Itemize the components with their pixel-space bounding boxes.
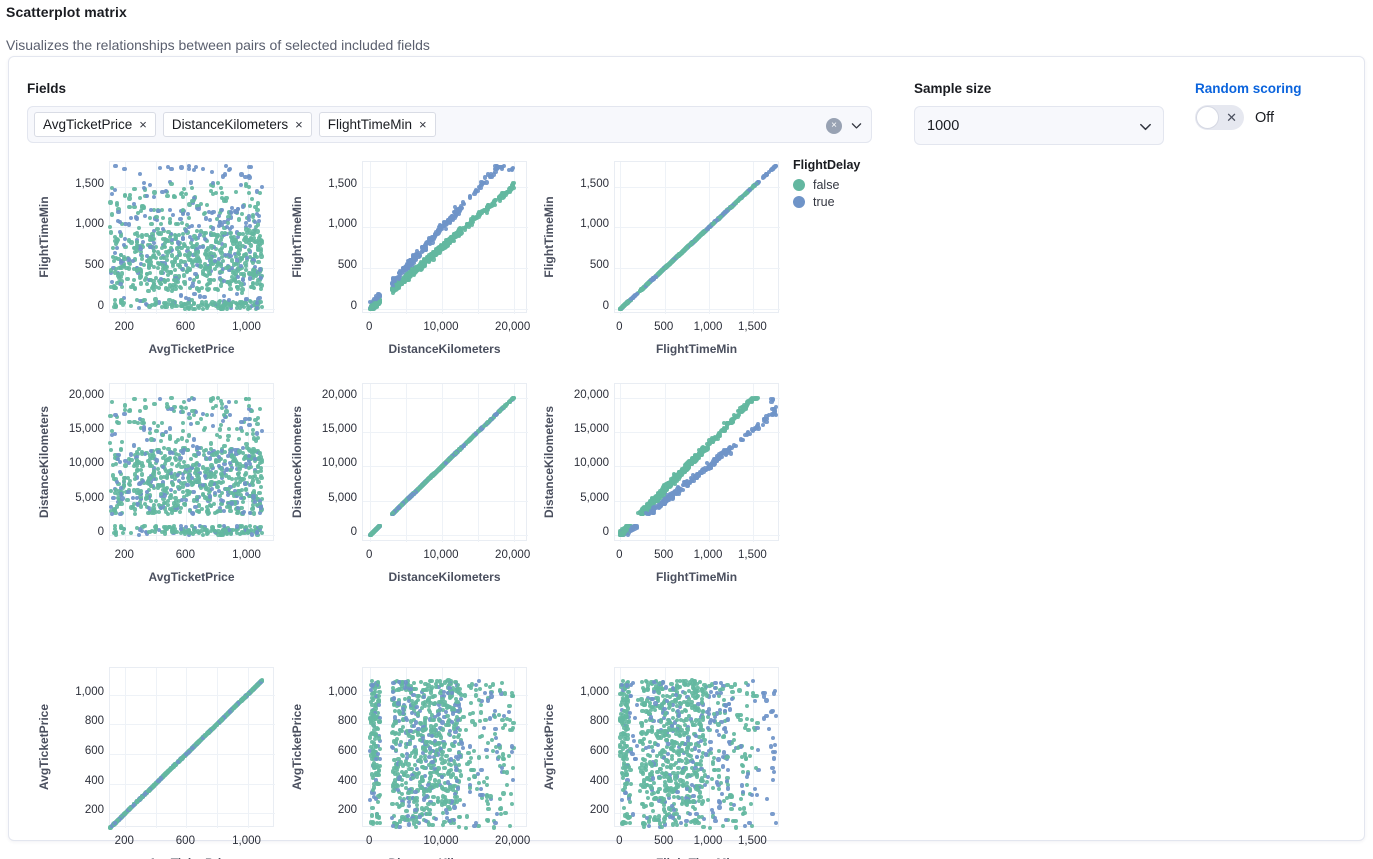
chevron-down-icon[interactable] xyxy=(1138,119,1151,132)
data-point xyxy=(252,272,256,276)
data-point xyxy=(179,259,183,263)
data-point xyxy=(180,221,184,225)
data-point xyxy=(148,427,152,431)
data-point xyxy=(219,263,223,267)
data-point xyxy=(215,217,219,221)
data-point xyxy=(211,226,215,230)
data-point xyxy=(190,524,194,528)
data-point xyxy=(160,190,164,194)
data-point xyxy=(220,191,224,195)
data-point xyxy=(222,294,226,298)
data-point xyxy=(182,273,186,277)
data-point xyxy=(152,190,156,194)
gridline-horizontal xyxy=(615,268,780,269)
data-point xyxy=(132,397,136,401)
data-point xyxy=(127,222,131,226)
y-axis-tick-label: 0 xyxy=(49,526,104,538)
data-point xyxy=(247,218,251,222)
field-pill-avgticketprice[interactable]: AvgTicketPrice × xyxy=(34,112,156,137)
data-point xyxy=(122,476,126,480)
data-point xyxy=(774,164,778,168)
y-axis-tick-label: 500 xyxy=(49,259,104,271)
data-point xyxy=(207,287,211,291)
data-point xyxy=(202,428,206,432)
data-point xyxy=(195,467,199,471)
data-point xyxy=(226,438,230,442)
data-point xyxy=(219,186,223,190)
data-point xyxy=(228,167,232,171)
field-pill-label: AvgTicketPrice xyxy=(43,117,132,132)
data-point xyxy=(196,304,200,308)
data-point xyxy=(172,194,176,198)
data-point xyxy=(192,437,196,441)
data-point xyxy=(119,265,123,269)
data-point xyxy=(113,188,117,192)
data-point xyxy=(137,306,141,310)
data-point xyxy=(207,210,211,214)
data-point xyxy=(223,450,227,454)
data-point xyxy=(219,283,223,287)
gridline-vertical xyxy=(186,162,187,314)
data-point xyxy=(129,452,133,456)
data-point xyxy=(255,431,259,435)
data-point xyxy=(228,287,232,291)
field-pill-flighttimemin[interactable]: FlightTimeMin × xyxy=(319,112,436,137)
gridline-vertical xyxy=(370,162,371,314)
data-point xyxy=(247,248,251,252)
data-point xyxy=(123,237,127,241)
data-point xyxy=(240,429,244,433)
data-point xyxy=(115,246,119,250)
data-point xyxy=(239,493,243,497)
plot-area[interactable] xyxy=(109,161,274,313)
data-point xyxy=(140,464,144,468)
data-point xyxy=(228,461,232,465)
x-axis-tick-label: 200 xyxy=(89,549,159,561)
data-point xyxy=(181,212,185,216)
gridline-vertical xyxy=(406,162,407,314)
data-point xyxy=(202,295,206,299)
plot-area[interactable] xyxy=(362,161,527,313)
data-point xyxy=(133,472,137,476)
data-point xyxy=(220,406,224,410)
data-point xyxy=(244,227,248,231)
data-point xyxy=(745,191,749,195)
data-point xyxy=(169,396,173,400)
gridline-horizontal xyxy=(363,501,528,502)
data-point xyxy=(197,280,201,284)
data-point xyxy=(132,443,136,447)
data-point xyxy=(141,240,145,244)
data-point xyxy=(228,413,232,417)
data-point xyxy=(157,286,161,290)
data-point xyxy=(161,263,165,267)
data-point xyxy=(146,289,150,293)
plot-area[interactable] xyxy=(614,161,779,313)
data-point xyxy=(137,533,141,537)
data-point xyxy=(145,272,149,276)
data-point xyxy=(135,468,139,472)
data-point xyxy=(142,181,146,185)
data-point xyxy=(244,442,248,446)
data-point xyxy=(187,412,191,416)
remove-field-icon[interactable]: × xyxy=(139,118,147,131)
data-point xyxy=(145,490,149,494)
data-point xyxy=(186,246,190,250)
data-point xyxy=(245,492,249,496)
data-point xyxy=(158,166,162,170)
y-axis-tick-label: 20,000 xyxy=(49,389,104,401)
data-point xyxy=(116,210,120,214)
gridline-vertical xyxy=(514,384,515,542)
data-point xyxy=(161,216,165,220)
data-point xyxy=(178,252,182,256)
data-point xyxy=(668,262,672,266)
data-point xyxy=(235,292,239,296)
gridline-horizontal xyxy=(363,187,528,188)
data-point xyxy=(192,292,196,296)
data-point xyxy=(488,205,492,209)
data-point xyxy=(127,420,131,424)
data-point xyxy=(129,531,133,535)
gridline-horizontal xyxy=(615,309,780,310)
data-point xyxy=(170,289,174,293)
data-point xyxy=(108,200,112,204)
data-point xyxy=(197,509,201,513)
random-scoring-toggle[interactable]: ✕ xyxy=(1195,105,1244,130)
gridline-vertical xyxy=(442,162,443,314)
data-point xyxy=(169,493,173,497)
data-point xyxy=(140,257,144,261)
data-point xyxy=(135,268,139,272)
field-pill-distancekilometers[interactable]: DistanceKilometers × xyxy=(163,112,312,137)
y-axis-tick-label: 0 xyxy=(49,300,104,312)
data-point xyxy=(110,192,114,196)
data-point xyxy=(242,477,246,481)
data-point xyxy=(114,532,118,536)
data-point xyxy=(462,202,466,206)
data-point xyxy=(168,426,172,430)
remove-field-icon[interactable]: × xyxy=(295,118,303,131)
data-point xyxy=(712,221,716,225)
data-point xyxy=(201,412,205,416)
data-point xyxy=(222,524,226,528)
data-point xyxy=(187,416,191,420)
data-point xyxy=(234,400,238,404)
data-point xyxy=(169,407,173,411)
data-point xyxy=(244,471,248,475)
data-point xyxy=(166,512,170,516)
data-point xyxy=(249,243,253,247)
data-point xyxy=(209,262,213,266)
data-point xyxy=(132,278,136,282)
data-point xyxy=(185,439,189,443)
data-point xyxy=(190,186,194,190)
data-point xyxy=(113,164,117,168)
gridline-horizontal xyxy=(363,398,528,399)
data-point xyxy=(129,216,133,220)
data-point xyxy=(138,172,142,176)
data-point xyxy=(412,268,416,272)
data-point xyxy=(156,424,160,428)
data-point xyxy=(168,456,172,460)
data-point xyxy=(437,246,441,250)
data-point xyxy=(251,261,255,265)
data-point xyxy=(224,302,228,306)
data-point xyxy=(164,525,168,529)
data-point xyxy=(226,454,230,458)
random-scoring-control[interactable]: ✕ Off xyxy=(1195,105,1274,130)
data-point xyxy=(166,230,170,234)
data-point xyxy=(180,498,184,502)
data-point xyxy=(258,234,262,238)
data-point xyxy=(249,165,253,169)
data-point xyxy=(189,180,193,184)
data-point xyxy=(149,499,153,503)
data-point xyxy=(199,202,203,206)
data-point xyxy=(170,462,174,466)
chevron-down-icon[interactable] xyxy=(850,119,863,132)
data-point xyxy=(260,241,264,245)
data-point xyxy=(136,211,140,215)
data-point xyxy=(133,512,137,516)
data-point xyxy=(223,243,227,247)
x-axis-tick-label: 0 xyxy=(334,321,404,333)
data-point xyxy=(675,255,679,259)
data-point xyxy=(140,235,144,239)
data-point xyxy=(148,463,152,467)
gridline-horizontal xyxy=(363,466,528,467)
x-axis-tick-label: 600 xyxy=(150,321,220,333)
data-point xyxy=(138,274,142,278)
data-point xyxy=(123,403,127,407)
data-point xyxy=(498,199,502,203)
remove-field-icon[interactable]: × xyxy=(419,118,427,131)
random-scoring-state: Off xyxy=(1255,110,1274,126)
data-point xyxy=(505,191,509,195)
data-point xyxy=(227,298,231,302)
data-point xyxy=(196,529,200,533)
data-point xyxy=(243,417,247,421)
data-point xyxy=(228,509,232,513)
data-point xyxy=(256,436,260,440)
data-point xyxy=(161,433,165,437)
fields-combobox[interactable]: AvgTicketPrice × DistanceKilometers × Fl… xyxy=(27,106,872,143)
data-point xyxy=(173,304,177,308)
sample-size-select[interactable]: 1000 xyxy=(914,106,1164,145)
data-point xyxy=(400,281,404,285)
data-point xyxy=(149,208,153,212)
data-point xyxy=(118,470,122,474)
data-point xyxy=(212,232,216,236)
data-point xyxy=(216,181,220,185)
data-point xyxy=(189,241,193,245)
data-point xyxy=(218,427,222,431)
data-point xyxy=(115,504,119,508)
data-point xyxy=(208,456,212,460)
data-point xyxy=(212,452,216,456)
data-point xyxy=(176,280,180,284)
data-point xyxy=(184,406,188,410)
data-point xyxy=(135,216,139,220)
data-point xyxy=(444,227,448,231)
data-point xyxy=(137,226,141,230)
data-point xyxy=(149,256,153,260)
data-point xyxy=(250,232,254,236)
data-point xyxy=(237,217,241,221)
data-point xyxy=(139,504,143,508)
data-point xyxy=(203,474,207,478)
data-point xyxy=(221,419,225,423)
data-point xyxy=(118,282,122,286)
data-point xyxy=(240,212,244,216)
data-point xyxy=(244,487,248,491)
data-point xyxy=(167,249,171,253)
scatterplot-matrix[interactable]: 05001,0001,5002006001,000AvgTicketPriceF… xyxy=(9,155,1366,835)
data-point xyxy=(205,203,209,207)
data-point xyxy=(211,181,215,185)
data-point xyxy=(140,472,144,476)
data-point xyxy=(152,469,156,473)
data-point xyxy=(181,429,185,433)
data-point xyxy=(199,264,203,268)
data-point xyxy=(119,448,123,452)
data-point xyxy=(195,480,199,484)
data-point xyxy=(122,167,126,171)
data-point xyxy=(205,413,209,417)
data-point xyxy=(260,429,264,433)
data-point xyxy=(196,446,200,450)
gridline-horizontal xyxy=(363,535,528,536)
data-point xyxy=(245,432,249,436)
toggle-knob xyxy=(1196,106,1219,129)
data-point xyxy=(241,511,245,515)
data-point xyxy=(199,417,203,421)
y-axis-tick-label: 500 xyxy=(554,259,609,271)
data-point xyxy=(193,272,197,276)
data-point xyxy=(126,490,130,494)
x-axis-tick-label: 600 xyxy=(150,549,220,561)
data-point xyxy=(146,511,150,515)
data-point xyxy=(159,506,163,510)
data-point xyxy=(220,255,224,259)
data-point xyxy=(178,456,182,460)
data-point xyxy=(210,487,214,491)
data-point xyxy=(258,525,262,529)
data-point xyxy=(159,439,163,443)
x-axis-tick-label: 10,000 xyxy=(406,321,476,333)
data-point xyxy=(149,437,153,441)
data-point xyxy=(113,251,117,255)
data-point xyxy=(251,494,255,498)
data-point xyxy=(140,204,144,208)
data-point xyxy=(255,229,259,233)
data-point xyxy=(149,222,153,226)
gridline-horizontal xyxy=(363,268,528,269)
data-point xyxy=(187,268,191,272)
y-axis-title: DistanceKilometers xyxy=(37,392,51,532)
data-point xyxy=(237,471,241,475)
plot-area[interactable] xyxy=(109,383,274,541)
data-point xyxy=(113,524,117,528)
data-point xyxy=(255,281,259,285)
x-axis-tick-label: 1,000 xyxy=(212,549,282,561)
data-point xyxy=(236,275,240,279)
data-point xyxy=(114,462,118,466)
page-title: Scatterplot matrix xyxy=(6,4,127,20)
data-point xyxy=(411,256,415,260)
data-point xyxy=(178,264,182,268)
data-point xyxy=(258,407,262,411)
data-point xyxy=(235,531,239,535)
data-point xyxy=(181,421,185,425)
gridline-horizontal xyxy=(615,227,780,228)
data-point xyxy=(133,507,137,511)
y-axis-title: FlightTimeMin xyxy=(542,167,556,307)
y-axis-tick-label: 5,000 xyxy=(49,492,104,504)
data-point xyxy=(209,504,213,508)
data-point xyxy=(241,277,245,281)
data-point xyxy=(253,220,257,224)
data-point xyxy=(190,199,194,203)
data-point xyxy=(173,477,177,481)
data-point xyxy=(108,414,112,418)
data-point xyxy=(156,209,160,213)
data-point xyxy=(176,438,180,442)
data-point xyxy=(241,500,245,504)
data-point xyxy=(127,196,131,200)
data-point xyxy=(131,496,135,500)
data-point xyxy=(251,506,255,510)
data-point xyxy=(227,427,231,431)
data-point xyxy=(252,436,256,440)
data-point xyxy=(138,409,142,413)
data-point xyxy=(430,255,434,259)
data-point xyxy=(181,236,185,240)
data-point xyxy=(156,450,160,454)
data-point xyxy=(169,167,173,171)
sample-size-value: 1000 xyxy=(927,118,959,134)
data-point xyxy=(189,422,193,426)
data-point xyxy=(110,512,114,516)
data-point xyxy=(160,421,164,425)
data-point xyxy=(161,227,165,231)
data-point xyxy=(113,432,117,436)
data-point xyxy=(190,409,194,413)
x-axis-tick-label: 1,000 xyxy=(212,321,282,333)
data-point xyxy=(142,186,146,190)
page-subtitle: Visualizes the relationships between pai… xyxy=(6,37,430,53)
data-point xyxy=(221,259,225,263)
plot-area[interactable] xyxy=(362,383,527,541)
data-point xyxy=(111,496,115,500)
data-point xyxy=(492,201,496,205)
data-point xyxy=(181,450,185,454)
data-point xyxy=(187,216,191,220)
data-point xyxy=(156,250,160,254)
data-point xyxy=(108,441,112,445)
data-point xyxy=(468,221,472,225)
data-point xyxy=(195,250,199,254)
data-point xyxy=(221,499,225,503)
data-point xyxy=(219,423,223,427)
data-point xyxy=(150,456,154,460)
clear-all-icon[interactable]: × xyxy=(826,118,842,134)
data-point xyxy=(133,477,137,481)
data-point xyxy=(217,464,221,468)
data-point xyxy=(148,431,152,435)
gridline-vertical xyxy=(478,384,479,542)
